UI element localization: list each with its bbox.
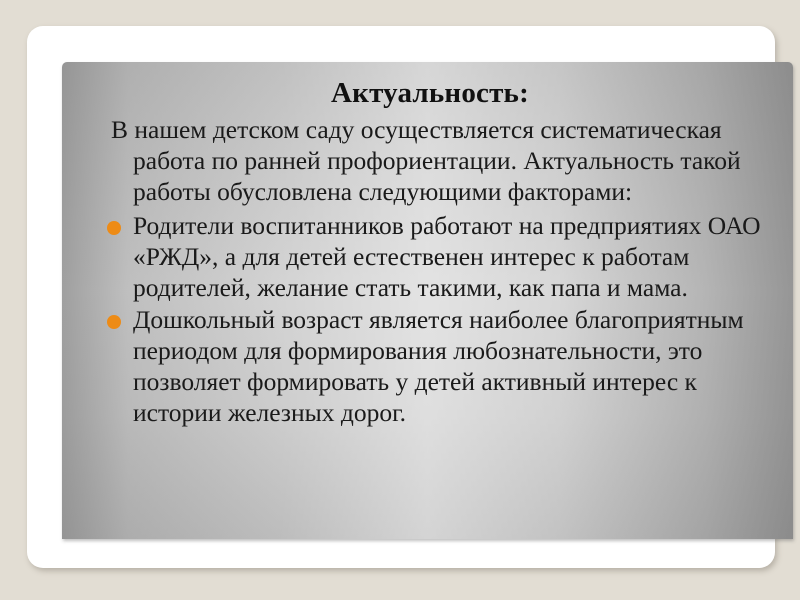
page-title: Актуальность: <box>85 76 775 110</box>
orange-bullet-icon <box>107 315 121 329</box>
intro-paragraph: В нашем детском саду осуществляется сист… <box>85 114 775 207</box>
list-item: Родители воспитанников работают на предп… <box>85 210 775 303</box>
bullet-list: Родители воспитанников работают на предп… <box>85 210 775 428</box>
content-panel: Актуальность: В нашем детском саду осуще… <box>62 62 793 539</box>
list-item-label: Дошкольный возраст является наиболее бла… <box>133 304 767 428</box>
panel-inner: Актуальность: В нашем детском саду осуще… <box>62 62 793 539</box>
presentation-slide: Актуальность: В нашем детском саду осуще… <box>0 0 800 600</box>
list-item: Дошкольный возраст является наиболее бла… <box>85 304 775 428</box>
slide-card: Актуальность: В нашем детском саду осуще… <box>27 26 775 568</box>
orange-bullet-icon <box>107 221 121 235</box>
list-item-label: Родители воспитанников работают на предп… <box>133 210 767 303</box>
